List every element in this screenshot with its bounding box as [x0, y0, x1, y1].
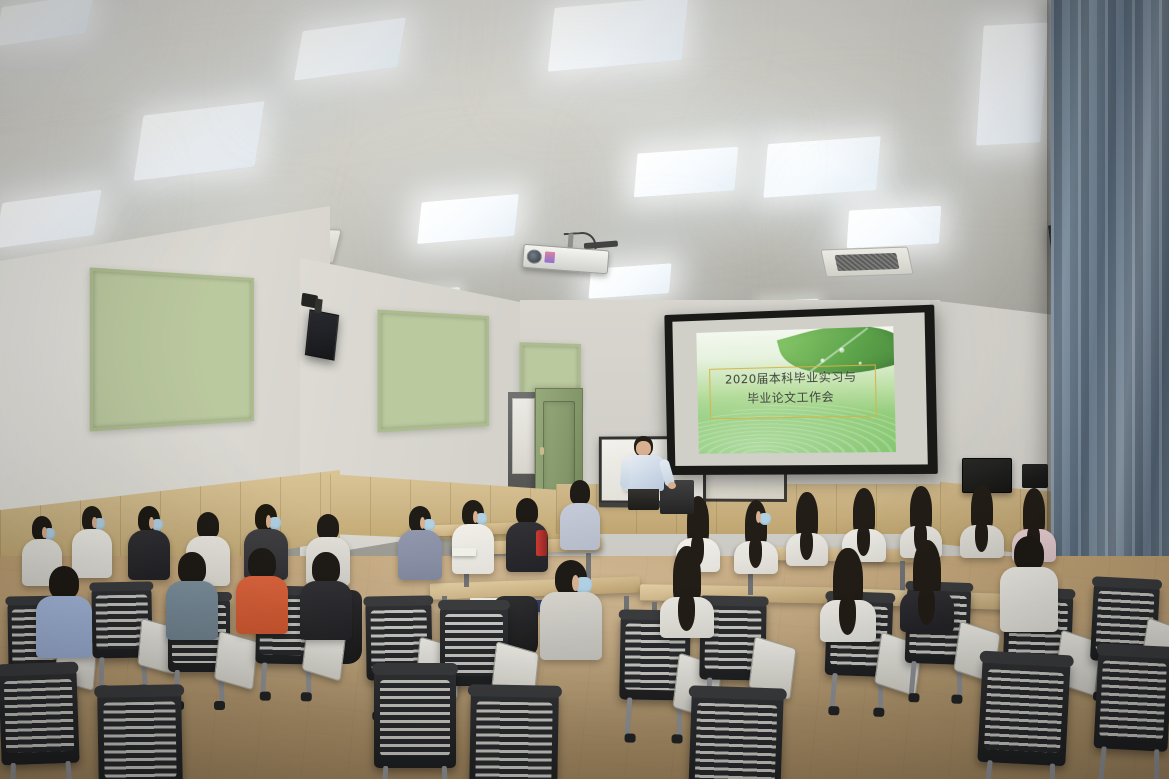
chair-slats	[1099, 660, 1167, 739]
chair-leg	[10, 763, 16, 779]
chair-slats	[475, 702, 552, 779]
chair-leg	[1154, 749, 1159, 779]
classroom-chair[interactable]	[469, 689, 559, 779]
chair-slats	[4, 678, 74, 753]
chair-top-rail	[372, 663, 459, 675]
classroom-chair[interactable]	[97, 689, 183, 779]
chair-leg	[1097, 746, 1107, 779]
classroom-chair[interactable]	[0, 667, 80, 766]
front-chairs-layer	[0, 0, 1169, 779]
classroom-photo: 2020届本科毕业实习与 毕业论文工作会	[0, 0, 1169, 779]
chair-slats	[984, 669, 1064, 753]
classroom-chair[interactable]	[977, 656, 1070, 766]
chair-slats	[380, 680, 451, 756]
classroom-chair[interactable]	[374, 668, 456, 768]
chair-leg	[66, 761, 75, 779]
chair-leg	[1050, 763, 1055, 779]
chair-top-rail	[95, 684, 184, 698]
chair-slats	[695, 703, 777, 779]
chair-leg	[982, 760, 992, 779]
classroom-chair[interactable]	[1093, 648, 1169, 752]
classroom-chair[interactable]	[688, 690, 784, 779]
chair-top-rail	[468, 684, 561, 698]
chair-slats	[103, 701, 177, 778]
